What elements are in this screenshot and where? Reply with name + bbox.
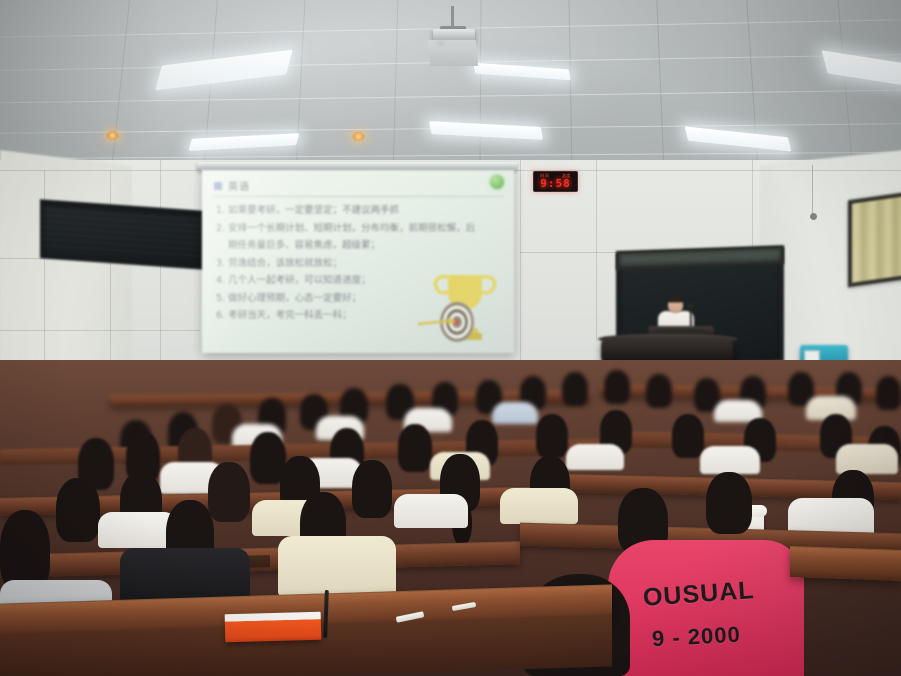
slide-bullet-square-icon: [214, 182, 222, 190]
led-label-temp: 温度: [562, 173, 571, 179]
student-torso: [278, 536, 396, 596]
student-head: [876, 376, 901, 410]
wall-tile-line: [596, 160, 597, 340]
trophy-and-target-icon: [412, 263, 508, 349]
wall-tile-line: [0, 330, 200, 331]
window-curtain: [852, 196, 901, 282]
projection-screen: 英语 1. 如果要考研，一定要坚定；不建议两手抓 2. 安排一个长期计划、短期计…: [202, 170, 514, 353]
lecture-hall-photo: 时间 温度 9:58 英语 1. 如果要考研，一定要坚定；不建议两手抓 2. 安…: [0, 0, 901, 676]
student-torso: [836, 444, 898, 474]
student-head: [604, 370, 630, 404]
slide-divider: [212, 196, 504, 197]
student-torso: [394, 494, 468, 528]
ceiling-downlight: [352, 132, 365, 141]
projector-ceiling-panel: [428, 40, 478, 66]
presenter-head: [668, 296, 683, 313]
slide-line: 1. 如果要考研，一定要坚定；不建议两手抓: [216, 202, 502, 220]
led-label-time: 时间: [540, 173, 549, 179]
student-head: [208, 462, 250, 522]
ceiling-downlight: [106, 131, 119, 140]
wall-tile-line: [520, 160, 521, 360]
student-head: [352, 460, 392, 518]
slide-logo-icon: [490, 175, 504, 189]
orange-notebook: [225, 612, 322, 643]
student-head: [56, 478, 100, 542]
student-torso: [492, 402, 538, 424]
slide-line: 2. 安排一个长期计划、短期计划，分布均衡，前期很松懈，后: [216, 220, 502, 238]
slide-title: 英语: [228, 178, 250, 193]
gooseneck-mic: [690, 306, 692, 328]
mic-capsule: [687, 303, 694, 308]
left-blackboard: [40, 199, 204, 269]
projector-mount: [451, 6, 454, 28]
student-torso: [700, 446, 760, 474]
student-head: [536, 414, 568, 458]
slide-line: 期任务量巨多、容易焦虑，超级累；: [216, 237, 502, 255]
student-head: [672, 414, 704, 458]
student-head: [398, 424, 432, 472]
student-head: [562, 372, 588, 406]
student-torso: [500, 488, 578, 524]
shirt-text-bottom: 9 - 2000: [651, 622, 741, 653]
wall-sensor: [810, 213, 817, 220]
wall-sensor-cable: [812, 165, 813, 213]
led-clock-labels: 时间 温度: [534, 173, 577, 178]
student-head: [0, 510, 50, 590]
student-head: [706, 472, 752, 534]
student-head: [646, 374, 672, 408]
front-desk-top-right: [790, 546, 901, 581]
window: [848, 192, 901, 288]
student-torso: [566, 444, 624, 470]
led-clock-display: 时间 温度 9:58: [533, 171, 578, 192]
slide-title-row: 英语: [214, 178, 250, 193]
led-clock-digits: 9:58: [540, 177, 571, 190]
